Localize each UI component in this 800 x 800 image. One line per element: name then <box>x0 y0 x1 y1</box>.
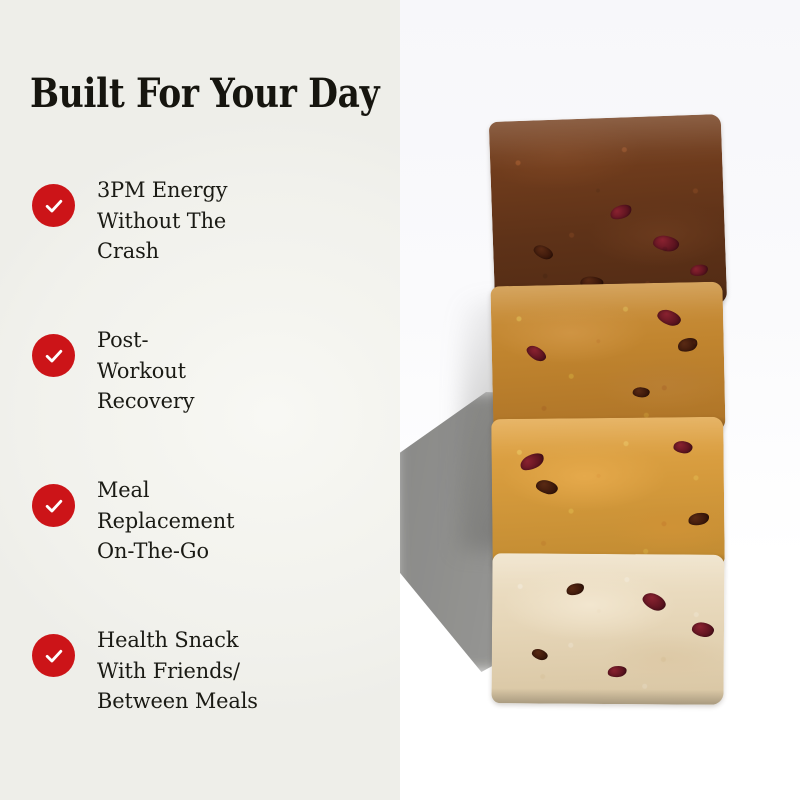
cranberry-piece <box>518 450 547 473</box>
benefit-line: Crash <box>97 237 391 268</box>
benefit-list: 3PM Energy Without The Crash Post- Worko… <box>0 176 400 776</box>
protein-bar-stack <box>492 118 732 708</box>
check-icon <box>32 334 75 377</box>
golden-bar-upper <box>490 282 725 437</box>
benefit-text: Health Snack With Friends/ Between Meals <box>97 626 391 718</box>
cranberry-piece <box>632 387 649 398</box>
cream-bar <box>491 553 724 705</box>
benefit-text: 3PM Energy Without The Crash <box>97 176 391 268</box>
bar-top-face <box>489 114 723 171</box>
check-icon <box>32 484 75 527</box>
benefit-line: With Friends/ <box>97 657 391 688</box>
benefit-line: Post- <box>97 326 391 357</box>
benefit-line: Meal <box>97 476 391 507</box>
benefit-text: Meal Replacement On-The-Go <box>97 476 391 568</box>
benefits-panel: Built For Your Day 3PM Energy Without Th… <box>0 0 400 800</box>
cranberry-piece <box>640 590 668 614</box>
benefit-line: Workout <box>97 357 391 388</box>
list-item: Health Snack With Friends/ Between Meals <box>0 626 400 776</box>
page-title: Built For Your Day <box>30 74 379 114</box>
cranberry-piece <box>687 511 710 527</box>
cranberry-piece <box>652 234 680 253</box>
cranberry-piece <box>655 307 682 329</box>
cranberry-piece <box>565 582 585 597</box>
product-image-panel <box>400 0 800 800</box>
bar-top-face <box>491 417 723 459</box>
check-icon <box>32 634 75 677</box>
benefit-line: On-The-Go <box>97 537 391 568</box>
cranberry-piece <box>524 343 548 364</box>
benefit-line: Between Meals <box>97 687 391 718</box>
cranberry-piece <box>608 202 633 222</box>
list-item: Post- Workout Recovery <box>0 326 400 476</box>
benefit-line: 3PM Energy <box>97 176 391 207</box>
bar-bottom-edge <box>491 688 723 705</box>
golden-bar-lower <box>491 417 725 571</box>
check-icon <box>32 184 75 227</box>
cranberry-piece <box>689 263 709 277</box>
list-item: Meal Replacement On-The-Go <box>0 476 400 626</box>
list-item: 3PM Energy Without The Crash <box>0 176 400 326</box>
benefit-line: Without The <box>97 207 391 238</box>
benefit-line: Health Snack <box>97 626 391 657</box>
benefit-text: Post- Workout Recovery <box>97 326 391 418</box>
cranberry-piece <box>531 647 549 662</box>
cranberry-piece <box>691 621 715 639</box>
cranberry-piece <box>535 478 560 496</box>
cranberry-piece <box>532 243 555 263</box>
cranberry-piece <box>607 665 627 678</box>
bar-top-face <box>492 553 724 594</box>
bar-top-face <box>490 282 723 326</box>
cranberry-piece <box>673 440 693 454</box>
poster-root: Built For Your Day 3PM Energy Without Th… <box>0 0 800 800</box>
benefit-line: Recovery <box>97 387 391 418</box>
benefit-line: Replacement <box>97 507 391 538</box>
cranberry-piece <box>676 336 699 354</box>
